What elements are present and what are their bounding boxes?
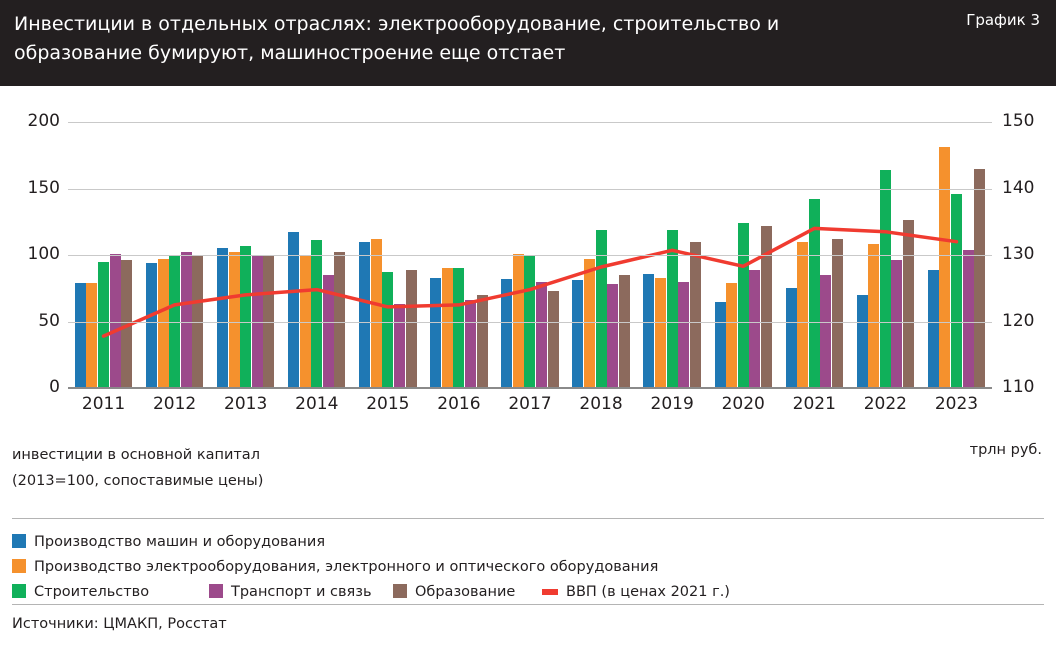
- legend-swatch-machinery: [12, 534, 26, 548]
- divider-top: [12, 518, 1044, 519]
- divider-bottom: [12, 604, 1044, 605]
- legend-row-3: Строительство Транспорт и связь Образова…: [12, 580, 1044, 605]
- x-tick-label: 2016: [419, 394, 499, 414]
- gridline: [68, 388, 992, 389]
- x-tick-label: 2015: [348, 394, 428, 414]
- chart-page: Инвестиции в отдельных отраслях: электро…: [0, 0, 1056, 654]
- left-caption-line2: (2013=100, сопоставимые цены): [12, 468, 263, 494]
- y-tick-left: 0: [2, 377, 60, 397]
- gridline: [68, 322, 992, 323]
- legend-swatch-education: [393, 584, 407, 598]
- legend-swatch-gdp: [542, 589, 558, 595]
- legend-item-construction: Строительство: [12, 580, 149, 605]
- x-tick-label: 2011: [64, 394, 144, 414]
- legend-label-transport: Транспорт и связь: [231, 584, 372, 600]
- legend-label-education: Образование: [415, 584, 515, 600]
- legend-item-electrical: Производство электрооборудования, электр…: [12, 555, 658, 580]
- y-tick-right: 140: [1002, 178, 1056, 198]
- source-note: Источники: ЦМАКП, Росстат: [12, 616, 227, 632]
- legend: Производство машин и оборудования Произв…: [12, 530, 1044, 605]
- y-tick-left: 200: [2, 111, 60, 131]
- legend-swatch-construction: [12, 584, 26, 598]
- x-tick-label: 2023: [916, 394, 996, 414]
- legend-label-electrical: Производство электрооборудования, электр…: [34, 559, 658, 575]
- left-caption: инвестиции в основной капитал (2013=100,…: [12, 442, 263, 494]
- legend-row-2: Производство электрооборудования, электр…: [12, 555, 1044, 580]
- x-tick-label: 2019: [632, 394, 712, 414]
- legend-item-transport: Транспорт и связь: [209, 580, 372, 605]
- chart-area: 050100150200 110120130140150 20112012201…: [0, 86, 1056, 426]
- x-tick-label: 2014: [277, 394, 357, 414]
- plot-region: [68, 122, 992, 388]
- gridline: [68, 255, 992, 256]
- y-tick-right: 130: [1002, 244, 1056, 264]
- gridline: [68, 189, 992, 190]
- legend-row-1: Производство машин и оборудования: [12, 530, 1044, 555]
- x-tick-label: 2013: [206, 394, 286, 414]
- x-tick-label: 2017: [490, 394, 570, 414]
- legend-swatch-electrical: [12, 559, 26, 573]
- header-bar: Инвестиции в отдельных отраслях: электро…: [0, 0, 1056, 86]
- legend-item-education: Образование: [393, 580, 515, 605]
- gridline: [68, 122, 992, 123]
- figure-number: График 3: [966, 11, 1040, 29]
- y-tick-right: 110: [1002, 377, 1056, 397]
- legend-item-machinery: Производство машин и оборудования: [12, 530, 325, 555]
- x-tick-label: 2021: [774, 394, 854, 414]
- y-tick-left: 150: [2, 178, 60, 198]
- right-caption: трлн руб.: [970, 442, 1042, 458]
- legend-swatch-transport: [209, 584, 223, 598]
- y-tick-left: 100: [2, 244, 60, 264]
- y-tick-right: 120: [1002, 311, 1056, 331]
- legend-label-machinery: Производство машин и оборудования: [34, 534, 325, 550]
- y-tick-left: 50: [2, 311, 60, 331]
- y-tick-right: 150: [1002, 111, 1056, 131]
- legend-label-gdp: ВВП (в ценах 2021 г.): [566, 584, 730, 600]
- left-caption-line1: инвестиции в основной капитал: [12, 442, 263, 468]
- legend-label-construction: Строительство: [34, 584, 149, 600]
- page-title: Инвестиции в отдельных отраслях: электро…: [14, 10, 894, 68]
- x-tick-label: 2020: [703, 394, 783, 414]
- legend-item-gdp: ВВП (в ценах 2021 г.): [542, 580, 730, 605]
- x-axis-labels: 2011201220132014201520162017201820192020…: [68, 394, 992, 420]
- x-tick-label: 2018: [561, 394, 641, 414]
- x-tick-label: 2012: [135, 394, 215, 414]
- x-tick-label: 2022: [845, 394, 925, 414]
